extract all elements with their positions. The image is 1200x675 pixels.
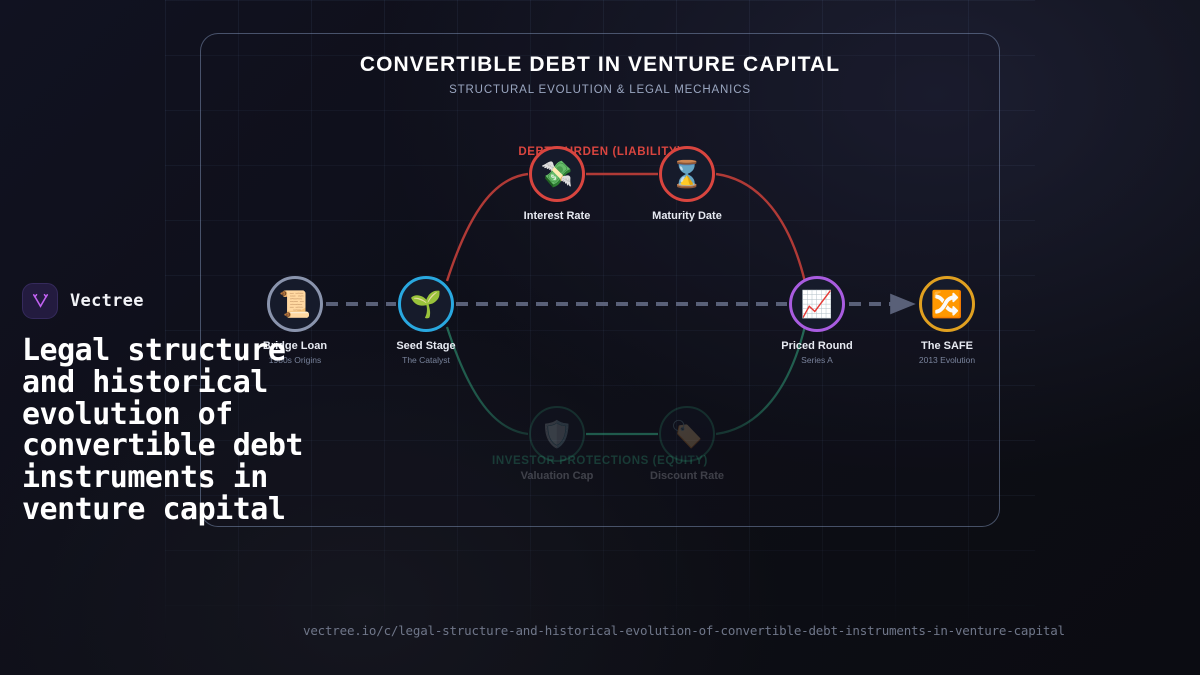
top-branch-edges bbox=[447, 174, 805, 282]
sidebar: Vectree Legal structure and historical e… bbox=[22, 283, 312, 526]
node-the-safe[interactable]: 🔀 The SAFE 2013 Evolution bbox=[947, 304, 948, 305]
page-title: Legal structure and historical evolution… bbox=[22, 335, 312, 526]
node-sublabel: 2013 Evolution bbox=[857, 355, 1037, 365]
node-label: Seed Stage bbox=[336, 340, 516, 352]
hourglass-icon: ⌛ bbox=[659, 146, 715, 202]
node-valuation-cap[interactable]: 🛡️ Valuation Cap bbox=[557, 434, 558, 435]
brand-name: Vectree bbox=[70, 291, 144, 311]
node-maturity-date[interactable]: ⌛ Maturity Date bbox=[687, 174, 688, 175]
tag-icon: 🏷️ bbox=[659, 406, 715, 462]
money-with-wings-icon: 💸 bbox=[529, 146, 585, 202]
chart-icon: 📈 bbox=[789, 276, 845, 332]
node-label: The SAFE bbox=[857, 340, 1037, 352]
node-label: Maturity Date bbox=[597, 210, 777, 222]
vectree-logo-icon bbox=[22, 283, 58, 319]
node-seed-stage[interactable]: 🌱 Seed Stage The Catalyst bbox=[426, 304, 427, 305]
node-discount-rate[interactable]: 🏷️ Discount Rate bbox=[687, 434, 688, 435]
shuffle-icon: 🔀 bbox=[919, 276, 975, 332]
node-interest-rate[interactable]: 💸 Interest Rate bbox=[557, 174, 558, 175]
seedling-icon: 🌱 bbox=[398, 276, 454, 332]
node-priced-round[interactable]: 📈 Priced Round Series A bbox=[817, 304, 818, 305]
footer-url: vectree.io/c/legal-structure-and-histori… bbox=[303, 623, 1065, 638]
brand: Vectree bbox=[22, 283, 312, 319]
node-sublabel: The Catalyst bbox=[336, 355, 516, 365]
shield-icon: 🛡️ bbox=[529, 406, 585, 462]
node-label: Discount Rate bbox=[597, 470, 777, 482]
